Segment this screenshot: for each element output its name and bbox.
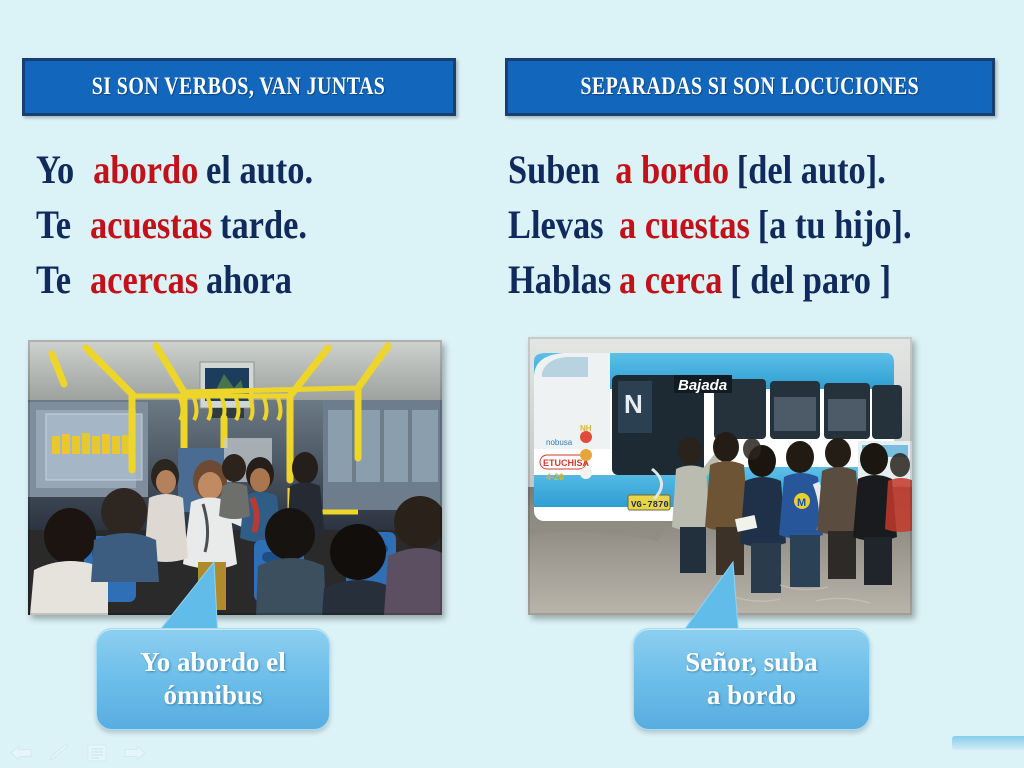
svg-text:NH: NH (580, 424, 592, 433)
sentence-highlight: abordo (93, 147, 198, 192)
menu-icon[interactable] (84, 743, 110, 763)
previous-arrow-icon[interactable] (8, 743, 34, 763)
sentence-rest: [a tu hijo]. (758, 202, 912, 247)
banner-verbos: SI SON VERBOS, VAN JUNTAS (22, 58, 456, 116)
sentence-pronoun: Suben (508, 147, 600, 192)
license-plate: VG-7870 (628, 495, 670, 510)
bajada-sign: Bajada (674, 375, 732, 394)
bubble-text-right: Señor, suba a bordo (677, 646, 826, 712)
sentence-pronoun: Yo (36, 147, 74, 192)
sentence-highlight: acuestas (90, 202, 212, 247)
sentence-line: Hablasa cerca[ del paro ] (508, 252, 912, 307)
bubble-text-left: Yo abordo el ómnibus (132, 646, 294, 712)
svg-text:N: N (624, 389, 643, 419)
license-plate-text: VG-7870 (631, 500, 669, 510)
banner-locuciones-label: SEPARADAS SI SON LOCUCIONES (581, 73, 920, 101)
sentence-pronoun: Hablas (508, 257, 611, 302)
svg-text:M: M (797, 497, 806, 509)
banner-verbos-label: SI SON VERBOS, VAN JUNTAS (92, 73, 386, 101)
slide-canvas: SI SON VERBOS, VAN JUNTAS SEPARADAS SI S… (0, 0, 1024, 768)
banner-locuciones: SEPARADAS SI SON LOCUCIONES (505, 58, 995, 116)
sentence-line: Teacercasahora (36, 252, 313, 307)
sentence-rest: tarde. (220, 202, 307, 247)
bubble-body-left: Yo abordo el ómnibus (96, 628, 330, 730)
sentence-line: Yoabordoel auto. (36, 142, 313, 197)
sentence-rest: el auto. (206, 147, 313, 192)
callout-bubble-left: Yo abordo el ómnibus (96, 560, 328, 735)
sentence-highlight: a cuestas (619, 202, 750, 247)
sentence-highlight: acercas (90, 257, 198, 302)
svg-text:4-20: 4-20 (546, 472, 564, 482)
passenger-right-standing-b (219, 454, 250, 519)
sentence-line: Subena bordo[del auto]. (508, 142, 912, 197)
next-arrow-icon[interactable] (122, 743, 148, 763)
bubble-body-right: Señor, suba a bordo (633, 628, 870, 730)
sentence-rest: [ del paro ] (730, 257, 891, 302)
bajada-sign-text: Bajada (678, 377, 727, 394)
sentence-rest: [del auto]. (737, 147, 886, 192)
sentence-list-verbos: Yoabordoel auto. Teacuestastarde. Teacer… (36, 142, 358, 307)
svg-text:nobusa: nobusa (546, 438, 573, 447)
callout-bubble-right: Señor, suba a bordo (633, 560, 868, 735)
sentence-rest: ahora (206, 257, 292, 302)
sentence-highlight: a cerca (619, 257, 722, 302)
sentence-pronoun: Te (36, 202, 71, 247)
pen-icon[interactable] (46, 743, 72, 763)
sentence-list-locuciones: Subena bordo[del auto]. Llevasa cuestas[… (508, 142, 977, 307)
corner-tab-decoration (952, 736, 1024, 750)
sentence-line: Llevasa cuestas[a tu hijo]. (508, 197, 912, 252)
sentence-pronoun: Te (36, 257, 71, 302)
sentence-highlight: a bordo (615, 147, 729, 192)
sentence-pronoun: Llevas (508, 202, 604, 247)
presentation-toolbar[interactable] (8, 743, 148, 763)
sentence-line: Teacuestastarde. (36, 197, 313, 252)
